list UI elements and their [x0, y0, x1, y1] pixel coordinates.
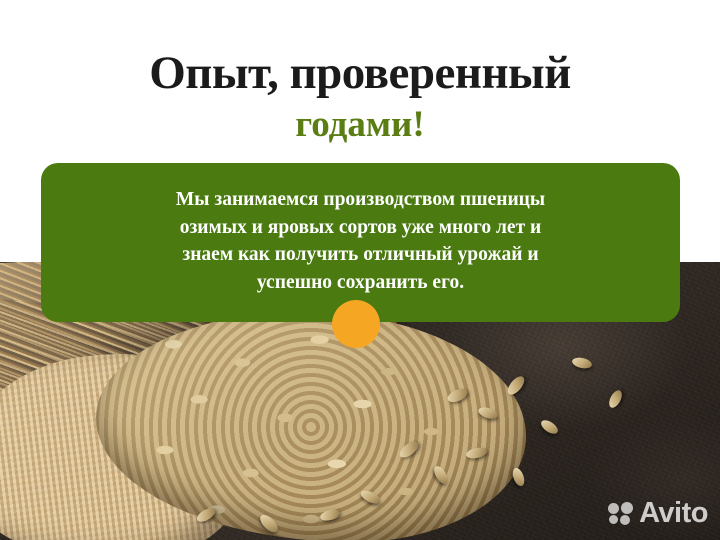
- description-line-3: знаем как получить отличный урожай и: [81, 241, 640, 269]
- headline-line-1: Опыт, проверенный: [0, 50, 720, 97]
- page-title: Опыт, проверенный годами!: [0, 50, 720, 143]
- avito-logo-icon: [608, 502, 633, 525]
- description-line-2: озимых и яровых сортов уже много лет и: [81, 214, 640, 242]
- description-card: Мы занимаемся производством пшеницы озим…: [41, 163, 680, 322]
- avito-wordmark: Avito: [639, 499, 708, 528]
- orange-accent-dot: [332, 300, 380, 348]
- description-line-1: Мы занимаемся производством пшеницы: [81, 186, 640, 214]
- description-line-4: успешно сохранить его.: [81, 269, 640, 297]
- headline-line-2: годами!: [0, 106, 720, 143]
- poster-canvas: Опыт, проверенный годами! Мы занимаемся …: [0, 0, 720, 540]
- description-text: Мы занимаемся производством пшеницы озим…: [81, 186, 640, 296]
- avito-watermark: Avito: [608, 499, 708, 528]
